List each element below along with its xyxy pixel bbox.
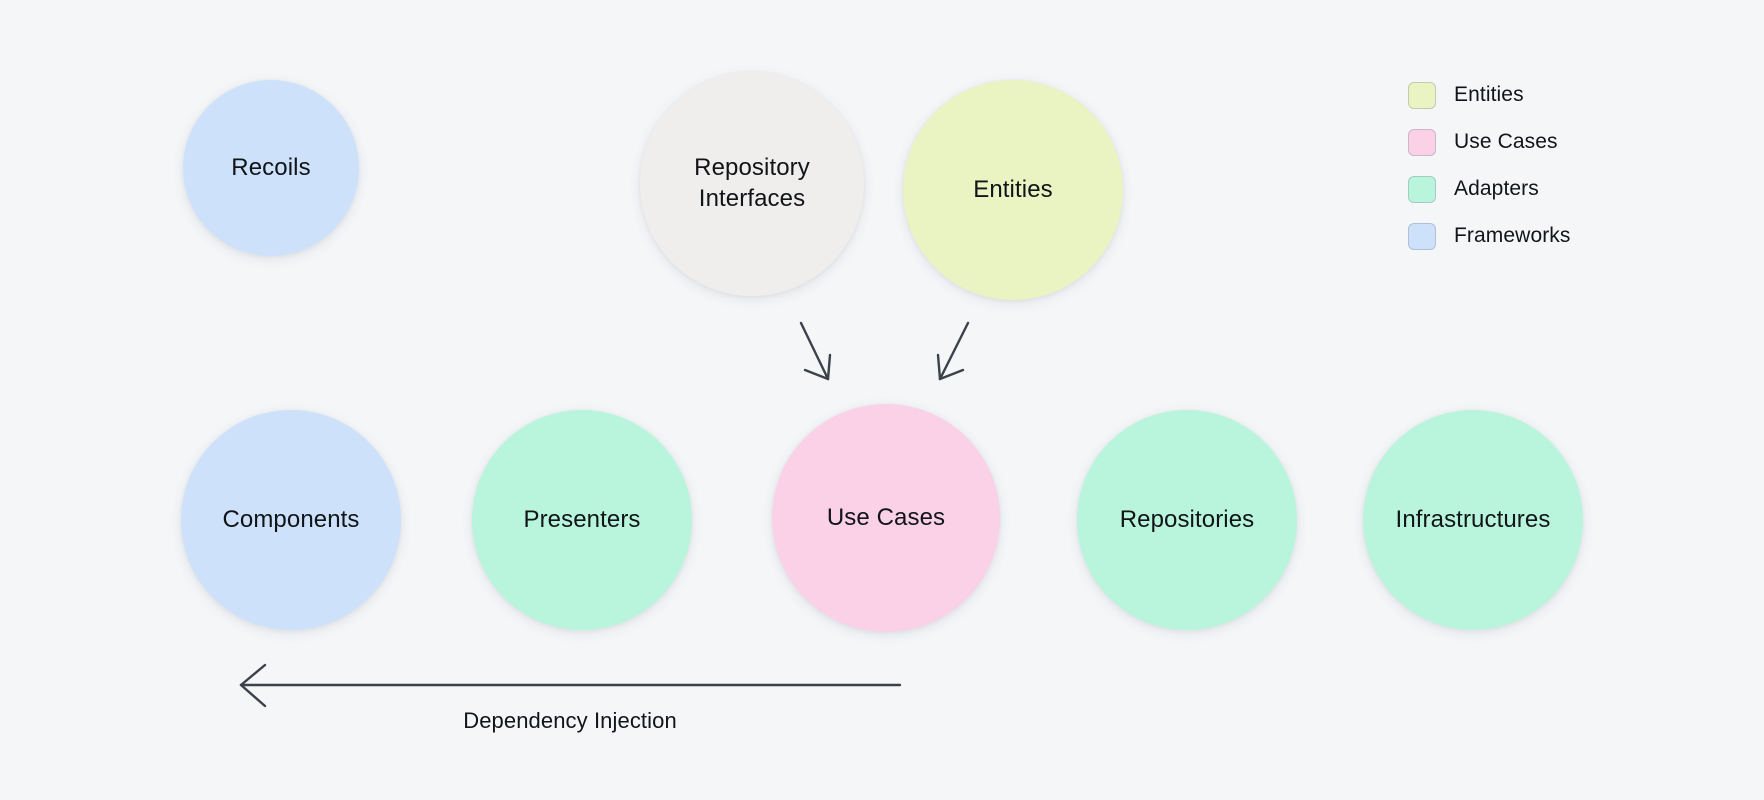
node-label: Repositories [1110,505,1265,536]
node-label: Recoils [221,153,320,184]
legend-item-frameworks[interactable]: Frameworks [1408,223,1571,249]
diagram-canvas: Recoils Repository Interfaces Entities C… [0,0,1764,800]
arrow-entities-to-use-cases [938,323,968,379]
node-label: Repository Interfaces [684,153,820,214]
node-components[interactable]: Components [181,410,401,630]
node-recoils[interactable]: Recoils [183,80,359,256]
node-entities[interactable]: Entities [903,80,1123,300]
node-label: Presenters [513,505,650,536]
legend-item-entities[interactable]: Entities [1408,82,1571,108]
legend-item-use-cases[interactable]: Use Cases [1408,129,1571,155]
legend-item-label: Entities [1454,83,1524,107]
legend: Entities Use Cases Adapters Frameworks [1408,82,1571,249]
legend-swatch-icon [1408,176,1436,203]
node-label: Components [212,505,369,536]
node-label: Use Cases [817,503,955,534]
node-label: Entities [963,175,1063,206]
dependency-injection-caption: Dependency Injection [240,708,900,734]
node-infrastructures[interactable]: Infrastructures [1363,410,1583,630]
node-use-cases[interactable]: Use Cases [772,404,1000,632]
legend-item-adapters[interactable]: Adapters [1408,176,1571,202]
legend-swatch-icon [1408,82,1436,109]
node-repository-interfaces[interactable]: Repository Interfaces [640,72,864,296]
node-presenters[interactable]: Presenters [472,410,692,630]
arrow-dependency-injection [241,665,900,706]
legend-item-label: Use Cases [1454,130,1558,154]
legend-item-label: Frameworks [1454,224,1571,248]
legend-item-label: Adapters [1454,177,1539,201]
arrow-interfaces-to-use-cases [801,323,830,379]
legend-swatch-icon [1408,129,1436,156]
node-repositories[interactable]: Repositories [1077,410,1297,630]
legend-swatch-icon [1408,223,1436,250]
node-label: Infrastructures [1386,505,1561,536]
